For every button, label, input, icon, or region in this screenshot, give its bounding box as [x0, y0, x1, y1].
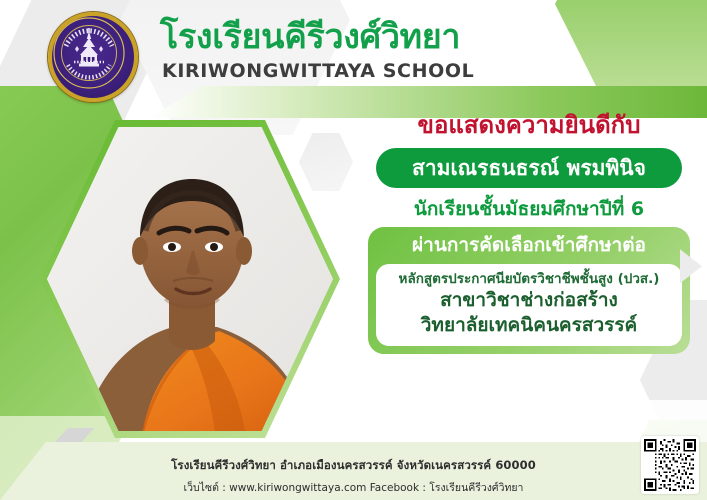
program-name: หลักสูตรประกาศนียบัตรวิชาชีพชั้นสูง (ปวส…	[384, 271, 674, 288]
student-name-badge: สามเณรธนธรณ์ พรมพินิจ	[376, 148, 682, 188]
selection-title: ผ่านการคัดเลือกเข้าศึกษาต่อ	[376, 234, 682, 258]
footer-contact: เว็บไซต์ : www.kiriwongwittaya.com Faceb…	[0, 479, 707, 496]
poster-header: โรงเรียนคีรีวงศ์วิทยา KIRIWONGWITTAYA SC…	[0, 0, 707, 100]
major-name: สาขาวิชาช่างก่อสร้าง	[384, 288, 674, 313]
arrow-nub-icon	[680, 249, 702, 283]
congrats-heading: ขอแสดงความยินดีกับ	[355, 112, 703, 138]
qr-code[interactable]	[641, 436, 699, 494]
selection-detail-box: หลักสูตรประกาศนียบัตรวิชาชีพชั้นสูง (ปวส…	[376, 264, 682, 346]
footer-address: โรงเรียนคีรีวงศ์วิทยา อำเภอเมืองนครสวรรค…	[0, 457, 707, 475]
student-grade: นักเรียนชั้นมัธยมศึกษาปีที่ 6	[355, 199, 703, 220]
grey-hexagon-small	[299, 133, 353, 191]
footer-text: โรงเรียนคีรีวงศ์วิทยา อำเภอเมืองนครสวรรค…	[0, 457, 707, 496]
page-title: โรงเรียนคีรีวงศ์วิทยา	[160, 20, 460, 54]
congratulation-content: ขอแสดงความยินดีกับ สามเณรธนธรณ์ พรมพินิจ…	[355, 112, 703, 354]
selection-box: ผ่านการคัดเลือกเข้าศึกษาต่อ หลักสูตรประก…	[368, 227, 690, 354]
congratulation-poster: โรงเรียนคีรีวงศ์วิทยา KIRIWONGWITTAYA SC…	[0, 0, 707, 500]
institution-name: วิทยาลัยเทคนิคนครสวรรค์	[384, 313, 674, 338]
school-seal-logo	[48, 12, 138, 102]
page-subtitle: KIRIWONGWITTAYA SCHOOL	[162, 62, 474, 81]
